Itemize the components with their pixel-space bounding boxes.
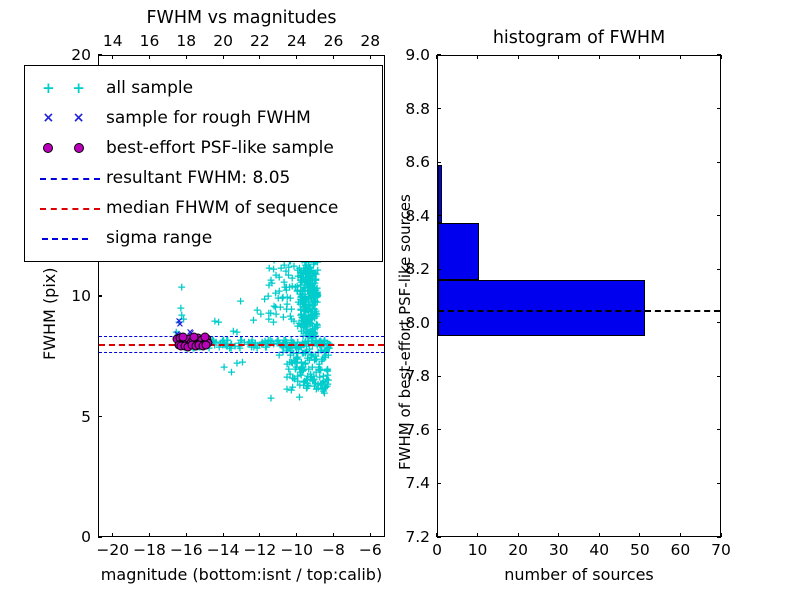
data-point-psf-like	[200, 332, 209, 341]
legend-entry: resultant FWHM: 8.05	[34, 163, 373, 193]
data-point-all-sample: +	[272, 309, 281, 320]
data-point-all-sample: +	[317, 345, 326, 356]
data-point-all-sample: +	[272, 337, 281, 348]
data-point-all-sample: +	[313, 265, 322, 276]
data-point-all-sample: +	[311, 290, 320, 301]
legend-dashed-icon	[34, 167, 106, 189]
histogram-ytick	[437, 536, 441, 537]
histogram-bar	[438, 223, 479, 280]
data-point-all-sample: +	[297, 362, 306, 373]
figure-canvas: FWHM vs magnitudes histogram of FWHM +++…	[0, 0, 800, 600]
data-point-all-sample: +	[306, 277, 315, 288]
data-point-all-sample: +	[313, 287, 322, 298]
data-point-all-sample: +	[311, 269, 320, 280]
data-point-all-sample: +	[210, 316, 219, 327]
data-point-all-sample: +	[297, 357, 306, 368]
data-point-all-sample: +	[316, 344, 325, 355]
data-point-all-sample: +	[310, 354, 319, 365]
histogram-yticklabel: 9.0	[405, 46, 430, 64]
histogram-xtick	[558, 533, 559, 537]
histogram-right-ytick	[717, 162, 721, 163]
histogram-top-xtick	[518, 55, 519, 59]
data-point-all-sample: +	[306, 369, 315, 380]
data-point-all-sample: +	[297, 270, 306, 281]
data-point-all-sample: +	[305, 270, 314, 281]
histogram-top-xtick	[639, 55, 640, 59]
data-point-all-sample: +	[288, 373, 297, 384]
histogram-xtick	[518, 533, 519, 537]
data-point-all-sample: +	[311, 284, 320, 295]
data-point-all-sample: +	[304, 314, 313, 325]
histogram-right-ytick	[717, 483, 721, 484]
data-point-all-sample: +	[249, 341, 258, 352]
data-point-all-sample: +	[308, 278, 317, 289]
data-point-all-sample: +	[303, 377, 312, 388]
data-point-all-sample: +	[321, 349, 330, 360]
data-point-all-sample: +	[307, 313, 316, 324]
data-point-all-sample: +	[297, 362, 306, 373]
data-point-all-sample: +	[296, 303, 305, 314]
data-point-all-sample: +	[281, 337, 290, 348]
legend-entry: ++all sample	[34, 73, 373, 103]
data-point-all-sample: +	[300, 337, 309, 348]
data-point-all-sample: +	[298, 348, 307, 359]
histogram-right-ytick	[717, 376, 721, 377]
data-point-all-sample: +	[311, 366, 320, 377]
histogram-bar	[438, 280, 645, 336]
data-point-all-sample: +	[302, 277, 311, 288]
data-point-all-sample: +	[297, 321, 306, 332]
scatter-top-xticklabel: 22	[250, 32, 270, 50]
scatter-xticklabel: −10	[280, 541, 313, 559]
data-point-all-sample: +	[310, 303, 319, 314]
histogram-ytick	[437, 54, 441, 55]
scatter-xtick	[112, 533, 113, 537]
data-point-all-sample: +	[282, 285, 291, 296]
data-point-all-sample: +	[296, 294, 305, 305]
data-point-all-sample: +	[264, 279, 273, 290]
legend-cross-icon: ×	[73, 110, 85, 126]
data-point-all-sample: +	[264, 313, 273, 324]
data-point-all-sample: +	[271, 301, 280, 312]
data-point-all-sample: +	[303, 286, 312, 297]
data-point-all-sample: +	[311, 354, 320, 365]
data-point-all-sample: +	[306, 278, 315, 289]
data-point-all-sample: +	[311, 274, 320, 285]
scatter-ytick	[98, 416, 102, 417]
data-point-all-sample: +	[307, 296, 316, 307]
histogram-xticklabel: 0	[432, 541, 442, 559]
data-point-all-sample: +	[318, 354, 327, 365]
data-point-all-sample: +	[305, 276, 314, 287]
data-point-all-sample: +	[297, 309, 306, 320]
histogram-xticklabel: 10	[468, 541, 488, 559]
data-point-all-sample: +	[282, 298, 291, 309]
data-point-all-sample: +	[310, 328, 319, 339]
data-point-all-sample: +	[197, 341, 206, 352]
data-point-all-sample: +	[236, 295, 245, 306]
data-point-all-sample: +	[324, 349, 333, 360]
data-point-all-sample: +	[309, 292, 318, 303]
data-point-all-sample: +	[282, 384, 291, 395]
data-point-all-sample: +	[323, 381, 332, 392]
data-point-all-sample: +	[298, 285, 307, 296]
data-point-all-sample: +	[311, 322, 320, 333]
data-point-all-sample: +	[304, 292, 313, 303]
data-point-all-sample: +	[304, 279, 313, 290]
data-point-all-sample: +	[313, 378, 322, 389]
data-point-all-sample: +	[310, 286, 319, 297]
data-point-all-sample: +	[281, 265, 290, 276]
data-point-all-sample: +	[308, 320, 317, 331]
data-point-all-sample: +	[312, 309, 321, 320]
data-point-all-sample: +	[305, 300, 314, 311]
data-point-all-sample: +	[282, 304, 291, 315]
data-point-all-sample: +	[298, 314, 307, 325]
data-point-all-sample: +	[313, 289, 322, 300]
legend-label: resultant FWHM: 8.05	[106, 168, 290, 188]
data-point-all-sample: +	[282, 359, 291, 370]
data-point-all-sample: +	[271, 270, 280, 281]
histogram-yticklabel: 8.8	[405, 100, 430, 118]
data-point-all-sample: +	[301, 272, 310, 283]
data-point-all-sample: +	[308, 304, 317, 315]
data-point-all-sample: +	[320, 345, 329, 356]
data-point-all-sample: +	[298, 286, 307, 297]
data-point-all-sample: +	[266, 307, 275, 318]
data-point-all-sample: +	[309, 270, 318, 281]
legend-label: best-effort PSF-like sample	[106, 138, 334, 158]
data-point-all-sample: +	[304, 331, 313, 342]
data-point-all-sample: +	[302, 303, 311, 314]
data-point-all-sample: +	[311, 308, 320, 319]
histogram-title: histogram of FWHM	[437, 28, 721, 48]
data-point-all-sample: +	[304, 270, 313, 281]
data-point-all-sample: +	[198, 337, 207, 348]
data-point-all-sample: +	[299, 299, 308, 310]
data-point-all-sample: +	[291, 281, 300, 292]
data-point-all-sample: +	[282, 371, 291, 382]
data-point-all-sample: +	[310, 296, 319, 307]
scatter-xtick	[370, 533, 371, 537]
data-point-all-sample: +	[194, 337, 203, 348]
data-point-all-sample: +	[311, 274, 320, 285]
scatter-xticklabel: −14	[207, 541, 240, 559]
histogram-right-ytick	[717, 108, 721, 109]
data-point-all-sample: +	[299, 267, 308, 278]
data-point-all-sample: +	[301, 297, 310, 308]
scatter-top-xtick	[223, 55, 224, 59]
scatter-top-xtick	[370, 55, 371, 59]
data-point-all-sample: +	[284, 270, 293, 281]
data-point-all-sample: +	[277, 263, 286, 274]
data-point-all-sample: +	[301, 357, 310, 368]
data-point-all-sample: +	[300, 315, 309, 326]
data-point-all-sample: +	[302, 279, 311, 290]
scatter-top-xtick	[259, 55, 260, 59]
data-point-all-sample: +	[300, 281, 309, 292]
data-point-all-sample: +	[298, 364, 307, 375]
scatter-xticklabel: −6	[359, 541, 382, 559]
data-point-all-sample: +	[304, 277, 313, 288]
data-point-all-sample: +	[294, 296, 303, 307]
data-point-all-sample: +	[264, 307, 273, 318]
data-point-all-sample: +	[265, 262, 274, 273]
data-point-all-sample: +	[318, 378, 327, 389]
legend-label: median FHWM of sequence	[106, 198, 338, 218]
data-point-all-sample: +	[311, 377, 320, 388]
data-point-all-sample: +	[283, 341, 292, 352]
data-point-all-sample: +	[296, 267, 305, 278]
scatter-xaxis-label: magnitude (bottom:isnt / top:calib)	[98, 565, 385, 584]
data-point-all-sample: +	[275, 272, 284, 283]
data-point-rough-fwhm: ×	[178, 333, 186, 343]
legend-dashed-line-icon	[40, 208, 100, 210]
histogram-xticklabel: 20	[508, 541, 528, 559]
histogram-top-xtick	[436, 55, 437, 59]
histogram-xticklabel: 40	[589, 541, 609, 559]
data-point-all-sample: +	[306, 265, 315, 276]
data-point-all-sample: +	[305, 315, 314, 326]
data-point-all-sample: +	[301, 304, 310, 315]
data-point-all-sample: +	[303, 277, 312, 288]
data-point-all-sample: +	[306, 305, 315, 316]
data-point-all-sample: +	[288, 337, 297, 348]
data-point-all-sample: +	[299, 263, 308, 274]
data-point-all-sample: +	[290, 373, 299, 384]
data-point-all-sample: +	[310, 329, 319, 340]
data-point-all-sample: +	[301, 300, 310, 311]
data-point-all-sample: +	[307, 314, 316, 325]
data-point-all-sample: +	[317, 383, 326, 394]
histogram-ytick	[437, 162, 441, 163]
data-point-all-sample: +	[307, 348, 316, 359]
data-point-all-sample: +	[279, 311, 288, 322]
data-point-all-sample: +	[306, 292, 315, 303]
data-point-all-sample: +	[301, 263, 310, 274]
data-point-all-sample: +	[310, 283, 319, 294]
data-point-all-sample: +	[288, 381, 297, 392]
data-point-all-sample: +	[256, 308, 265, 319]
data-point-all-sample: +	[304, 316, 313, 327]
data-point-all-sample: +	[305, 275, 314, 286]
data-point-all-sample: +	[288, 272, 297, 283]
data-point-all-sample: +	[308, 277, 317, 288]
histogram-right-ytick	[717, 215, 721, 216]
data-point-all-sample: +	[286, 311, 295, 322]
data-point-all-sample: +	[302, 267, 311, 278]
data-point-all-sample: +	[287, 314, 296, 325]
data-point-all-sample: +	[319, 337, 328, 348]
data-point-all-sample: +	[292, 285, 301, 296]
histogram-right-ytick	[717, 536, 721, 537]
data-point-all-sample: +	[253, 305, 262, 316]
histogram-xtick	[680, 533, 681, 537]
legend-label: sigma range	[106, 228, 212, 248]
data-point-all-sample: +	[300, 376, 309, 387]
data-point-all-sample: +	[297, 276, 306, 287]
data-point-all-sample: +	[292, 348, 301, 359]
data-point-all-sample: +	[298, 294, 307, 305]
data-point-all-sample: +	[307, 270, 316, 281]
data-point-all-sample: +	[298, 337, 307, 348]
data-point-all-sample: +	[308, 273, 317, 284]
data-point-all-sample: +	[296, 299, 305, 310]
data-point-all-sample: +	[302, 373, 311, 384]
data-point-all-sample: +	[302, 276, 311, 287]
data-point-all-sample: +	[317, 355, 326, 366]
data-point-all-sample: +	[293, 354, 302, 365]
data-point-all-sample: +	[271, 288, 280, 299]
data-point-all-sample: +	[289, 348, 298, 359]
data-point-all-sample: +	[309, 295, 318, 306]
data-point-all-sample: +	[308, 323, 317, 334]
data-point-all-sample: +	[300, 294, 309, 305]
data-point-all-sample: +	[293, 320, 302, 331]
data-point-all-sample: +	[303, 273, 312, 284]
scatter-reference-line	[99, 344, 384, 346]
data-point-all-sample: +	[306, 287, 315, 298]
data-point-all-sample: +	[300, 284, 309, 295]
data-point-all-sample: +	[304, 313, 313, 324]
data-point-all-sample: +	[300, 298, 309, 309]
scatter-ytick	[98, 536, 102, 537]
data-point-all-sample: +	[293, 357, 302, 368]
data-point-all-sample: +	[307, 309, 316, 320]
data-point-all-sample: +	[306, 281, 315, 292]
data-point-psf-like	[178, 332, 187, 341]
legend-dashed-line-icon	[40, 178, 100, 180]
data-point-all-sample: +	[299, 297, 308, 308]
histogram-top-xtick	[558, 55, 559, 59]
data-point-all-sample: +	[299, 288, 308, 299]
histogram-axes	[437, 55, 721, 537]
data-point-all-sample: +	[276, 301, 285, 312]
data-point-all-sample: +	[301, 293, 310, 304]
scatter-legend: ++all sample××sample for rough FWHMbest-…	[24, 65, 383, 262]
data-point-all-sample: +	[261, 341, 270, 352]
data-point-all-sample: +	[315, 359, 324, 370]
data-point-rough-fwhm: ×	[176, 320, 184, 330]
data-point-all-sample: +	[298, 313, 307, 324]
data-point-all-sample: +	[278, 292, 287, 303]
scatter-xtick	[223, 533, 224, 537]
data-point-all-sample: +	[301, 322, 310, 333]
histogram-data-layer	[438, 56, 720, 536]
histogram-xtick	[477, 533, 478, 537]
scatter-xticklabel: −16	[170, 541, 203, 559]
data-point-all-sample: +	[324, 375, 333, 386]
data-point-all-sample: +	[300, 305, 309, 316]
data-point-all-sample: +	[235, 341, 244, 352]
data-point-all-sample: +	[283, 292, 292, 303]
data-point-all-sample: +	[302, 265, 311, 276]
data-point-all-sample: +	[274, 292, 283, 303]
data-point-all-sample: +	[305, 280, 314, 291]
data-point-all-sample: +	[308, 375, 317, 386]
data-point-all-sample: +	[306, 371, 315, 382]
scatter-yticklabel: 5	[81, 408, 91, 426]
data-point-all-sample: +	[299, 300, 308, 311]
data-point-all-sample: +	[212, 337, 221, 348]
data-point-all-sample: +	[295, 367, 304, 378]
data-point-all-sample: +	[266, 275, 275, 286]
legend-circle-icon	[43, 143, 53, 153]
data-point-all-sample: +	[297, 291, 306, 302]
data-point-all-sample: +	[298, 276, 307, 287]
data-point-all-sample: +	[282, 345, 291, 356]
scatter-top-xticklabel: 20	[213, 32, 233, 50]
data-point-all-sample: +	[310, 284, 319, 295]
data-point-all-sample: +	[296, 280, 305, 291]
data-point-all-sample: +	[306, 281, 315, 292]
data-point-all-sample: +	[177, 282, 186, 293]
data-point-all-sample: +	[286, 292, 295, 303]
data-point-all-sample: +	[303, 381, 312, 392]
data-point-all-sample: +	[293, 375, 302, 386]
data-point-all-sample: +	[308, 290, 317, 301]
data-point-all-sample: +	[287, 357, 296, 368]
data-point-all-sample: +	[305, 262, 314, 273]
data-point-all-sample: +	[311, 289, 320, 300]
data-point-all-sample: +	[289, 373, 298, 384]
data-point-all-sample: +	[275, 285, 284, 296]
data-point-all-sample: +	[293, 270, 302, 281]
data-point-all-sample: +	[313, 297, 322, 308]
data-point-all-sample: +	[176, 302, 185, 313]
data-point-all-sample: +	[314, 362, 323, 373]
data-point-all-sample: +	[293, 281, 302, 292]
data-point-all-sample: +	[284, 364, 293, 375]
data-point-all-sample: +	[284, 261, 293, 272]
data-point-all-sample: +	[315, 371, 324, 382]
data-point-all-sample: +	[309, 371, 318, 382]
data-point-all-sample: +	[295, 379, 304, 390]
data-point-all-sample: +	[299, 305, 308, 316]
data-point-all-sample: +	[297, 267, 306, 278]
data-point-all-sample: +	[298, 313, 307, 324]
data-point-all-sample: +	[173, 329, 182, 340]
scatter-top-xticklabel: 14	[103, 32, 123, 50]
histogram-xticklabel: 70	[711, 541, 731, 559]
data-point-all-sample: +	[302, 303, 311, 314]
histogram-right-ytick	[717, 269, 721, 270]
histogram-bar	[438, 165, 442, 222]
scatter-xticklabel: −8	[322, 541, 345, 559]
data-point-all-sample: +	[274, 337, 283, 348]
data-point-all-sample: +	[302, 345, 311, 356]
data-point-all-sample: +	[303, 378, 312, 389]
data-point-all-sample: +	[299, 320, 308, 331]
data-point-all-sample: +	[296, 341, 305, 352]
legend-label: all sample	[106, 78, 193, 98]
data-point-all-sample: +	[303, 352, 312, 363]
histogram-yaxis-label: FWHM of best-effort PSF-like sources	[396, 194, 414, 470]
legend-entry: sigma range	[34, 223, 373, 253]
scatter-xtick	[333, 533, 334, 537]
histogram-right-ytick	[717, 54, 721, 55]
data-point-all-sample: +	[300, 359, 309, 370]
data-point-all-sample: +	[295, 392, 304, 403]
histogram-xticklabel: 60	[671, 541, 691, 559]
data-point-all-sample: +	[305, 270, 314, 281]
scatter-ytick	[98, 295, 102, 296]
data-point-all-sample: +	[299, 321, 308, 332]
data-point-all-sample: +	[300, 315, 309, 326]
data-point-all-sample: +	[260, 294, 269, 305]
scatter-yticklabel: 20	[71, 46, 91, 64]
scatter-top-xticklabel: 28	[360, 32, 380, 50]
